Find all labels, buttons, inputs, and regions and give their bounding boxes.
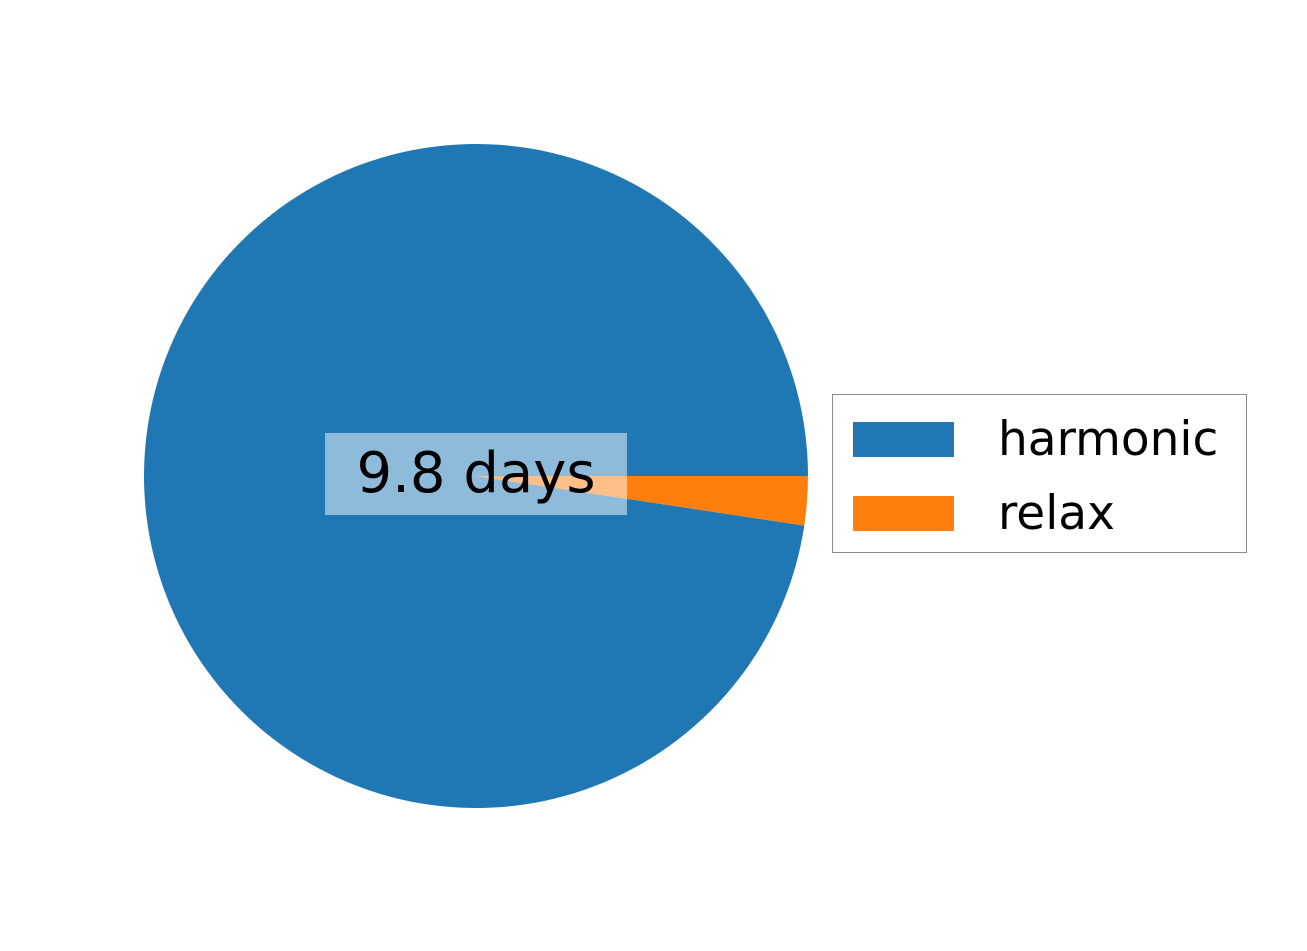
legend-entry-harmonic[interactable]: harmonic [833, 409, 1246, 469]
legend: harmonic relax [832, 394, 1247, 553]
legend-label-harmonic: harmonic [998, 416, 1218, 463]
pie-slice-label-harmonic-text: 9.8 days [356, 446, 595, 502]
legend-swatch-relax [853, 496, 954, 531]
pie-slice-label-harmonic: 9.8 days [325, 433, 627, 515]
pie-chart-figure: 9.8 days harmonic relax [0, 0, 1307, 951]
legend-entry-relax[interactable]: relax [833, 483, 1246, 543]
legend-label-relax: relax [998, 490, 1115, 537]
legend-swatch-harmonic [853, 422, 954, 457]
